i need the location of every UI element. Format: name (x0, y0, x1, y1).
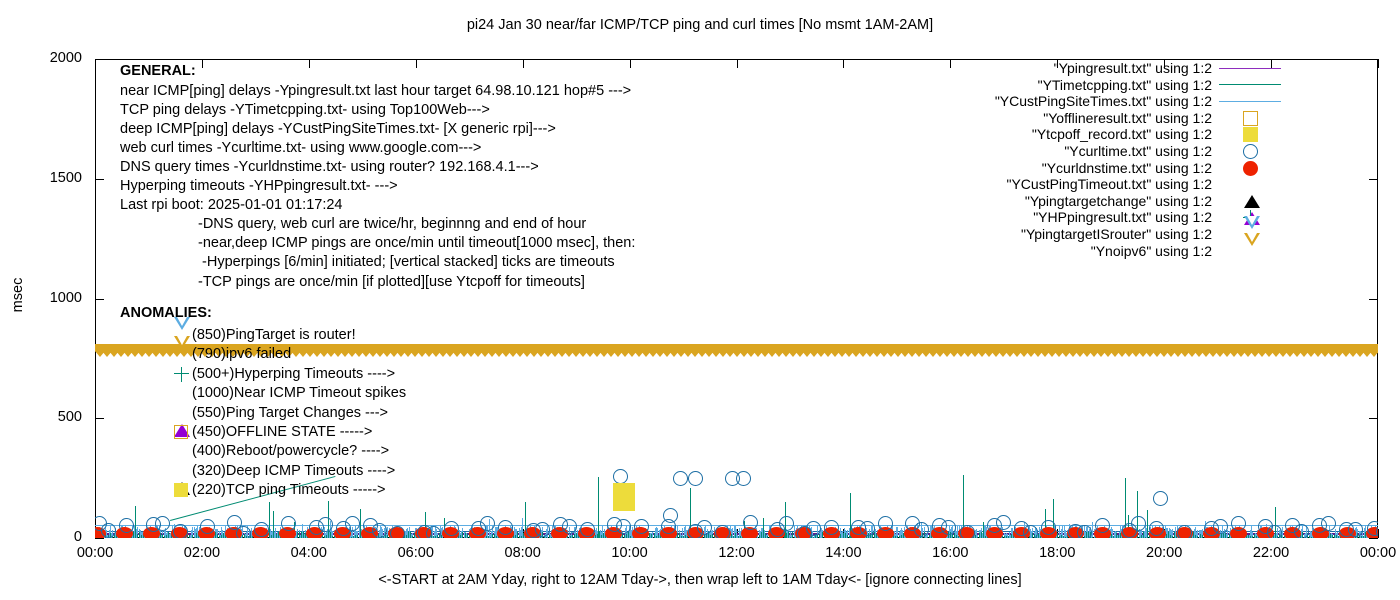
general-indented-line-1: -near,deep ICMP pings are once/min until… (120, 236, 635, 251)
general-line-5: Hyperping timeouts -YHPpingresult.txt- -… (120, 179, 635, 194)
legend-item-0: "Ypingresult.txt" using 1:2 (905, 60, 1300, 77)
legend-label-6: "Ycurldnstime.txt" using 1:2 (1042, 160, 1212, 176)
y-tick-label-0: 0 (0, 529, 82, 545)
open-triangle-down-icon (1217, 243, 1283, 260)
legend-item-7: "YCustPingTimeout.txt" using 1:2 (905, 176, 1300, 193)
anomaly-row-3: (1000)Near ICMP Timeout spikes (192, 385, 406, 401)
anomaly-label-0: (850)PingTarget is router! (192, 327, 356, 343)
x-tick-label-3: 06:00 (356, 545, 476, 561)
legend-item-5: "Ycurltime.txt" using 1:2 (905, 143, 1300, 160)
general-indented-line-0: -DNS query, web curl are twice/hr, begin… (120, 217, 635, 232)
x-tick-label-12: 00:00 (1318, 545, 1400, 561)
open-square-icon (1217, 110, 1283, 127)
legend-item-10: "YpingtargetISrouter" using 1:2 (905, 226, 1300, 243)
legend-label-5: "Ycurltime.txt" using 1:2 (1064, 143, 1212, 159)
legend-label-10: "YpingtargetISrouter" using 1:2 (1021, 226, 1212, 242)
legend-item-1: "YTimetcpping.txt" using 1:2 (905, 77, 1300, 94)
legend-line-icon-0 (1217, 60, 1283, 77)
anomaly-label-5: (450)OFFLINE STATE -----> (192, 424, 372, 440)
y-tick-mark-right-0 (1369, 538, 1378, 539)
anomalies-annotation-block: ANOMALIES: (850)PingTarget is router!(79… (120, 305, 640, 505)
legend-label-9: "YHPpingresult.txt" using 1:2 (1033, 209, 1212, 225)
page-title: pi24 Jan 30 near/far ICMP/TCP ping and c… (0, 17, 1400, 33)
x-tick-label-4: 08:00 (463, 545, 583, 561)
legend-line-icon-1 (1217, 77, 1283, 94)
x-tick-mark-12 (1378, 529, 1379, 538)
y-tick-label-1500: 1500 (0, 170, 82, 186)
legend-label-0: "Ypingresult.txt" using 1:2 (1054, 60, 1212, 76)
anomaly-label-3: (1000)Near ICMP Timeout spikes (192, 385, 406, 401)
general-line-1: TCP ping delays -YTimetcpping.txt- using… (120, 103, 635, 118)
anomaly-row-6: (400)Reboot/powercycle? ----> (192, 443, 389, 459)
open-triangle-up-icon (174, 466, 190, 482)
legend: "Ypingresult.txt" using 1:2"YTimetcpping… (905, 60, 1300, 259)
anomaly-row-5: (450)OFFLINE STATE -----> (192, 424, 372, 440)
general-heading: GENERAL: (120, 63, 635, 79)
y-tick-label-500: 500 (0, 409, 82, 425)
filled-square-icon (1217, 126, 1283, 143)
legend-label-7: "YCustPingTimeout.txt" using 1:2 (1006, 176, 1212, 192)
legend-item-4: "Ytcpoff_record.txt" using 1:2 (905, 126, 1300, 143)
anomaly-row-8: (220)TCP ping Timeouts -----> (192, 482, 386, 498)
anomaly-row-1: (790)ipv6 failed (192, 346, 291, 362)
filled-circle-icon (1217, 160, 1283, 177)
anomaly-label-6: (400)Reboot/powercycle? ----> (192, 443, 389, 459)
y-tick-label-1000: 1000 (0, 290, 82, 306)
anomalies-heading: ANOMALIES: (120, 305, 640, 321)
legend-item-3: "Yofflineresult.txt" using 1:2 (905, 110, 1300, 127)
legend-label-8: "Ypingtargetchange" using 1:2 (1025, 193, 1212, 209)
legend-label-11: "Ynoipv6" using 1:2 (1091, 243, 1212, 259)
legend-label-1: "YTimetcpping.txt" using 1:2 (1038, 77, 1212, 93)
open-square-icon (174, 425, 188, 443)
open-triangle-up-icon (1217, 176, 1283, 193)
anomaly-row-0: (850)PingTarget is router! (192, 327, 356, 343)
anomaly-label-8: (220)TCP ping Timeouts -----> (192, 482, 386, 498)
anomaly-label-4: (550)Ping Target Changes ---> (192, 405, 388, 421)
data-point-ynoipv6 (1377, 344, 1378, 357)
x-tick-label-2: 04:00 (249, 545, 369, 561)
legend-label-2: "YCustPingSiteTimes.txt" using 1:2 (995, 93, 1212, 109)
legend-item-11: "Ynoipv6" using 1:2 (905, 243, 1300, 260)
general-line-3: web curl times -Ycurltime.txt- using www… (120, 141, 635, 156)
open-circle-icon (1217, 143, 1283, 160)
y-tick-label-2000: 2000 (0, 50, 82, 66)
x-tick-mark-top-12 (1378, 59, 1379, 68)
x-tick-label-1: 02:00 (142, 545, 262, 561)
anomaly-row-2: (500+)Hyperping Timeouts ----> (192, 366, 395, 382)
general-line-6: Last rpi boot: 2025-01-01 01:17:24 (120, 198, 635, 213)
x-tick-label-6: 12:00 (677, 545, 797, 561)
general-line-0: near ICMP[ping] delays -Ypingresult.txt … (120, 84, 635, 99)
filled-triangle-up-icon (174, 408, 190, 424)
x-tick-label-5: 10:00 (570, 545, 690, 561)
plus-icon (174, 367, 189, 386)
x-tick-label-0: 00:00 (35, 545, 155, 561)
x-tick-label-10: 20:00 (1104, 545, 1224, 561)
chart-root: pi24 Jan 30 near/far ICMP/TCP ping and c… (0, 0, 1400, 600)
x-tick-label-8: 16:00 (890, 545, 1010, 561)
anomaly-row-4: (550)Ping Target Changes ---> (192, 405, 388, 421)
legend-line-icon-2 (1217, 93, 1283, 110)
x-axis-caption: <-START at 2AM Yday, right to 12AM Tday-… (0, 572, 1400, 588)
x-tick-label-7: 14:00 (783, 545, 903, 561)
general-line-2: deep ICMP[ping] delays -YCustPingSiteTim… (120, 122, 635, 137)
general-line-4: DNS query times -Ycurldnstime.txt- using… (120, 160, 635, 175)
legend-item-8: "Ypingtargetchange" using 1:2 (905, 193, 1300, 210)
anomaly-label-7: (320)Deep ICMP Timeouts ----> (192, 463, 395, 479)
filled-triangle-up-icon (1217, 193, 1283, 210)
legend-item-9: "YHPpingresult.txt" using 1:2 (905, 209, 1300, 226)
filled-square-icon (174, 483, 188, 501)
general-indented-line-3: -TCP pings are once/min [if plotted][use… (120, 275, 635, 290)
x-tick-label-9: 18:00 (997, 545, 1117, 561)
anomaly-label-1: (790)ipv6 failed (192, 346, 291, 362)
anomaly-label-2: (500+)Hyperping Timeouts ----> (192, 366, 395, 382)
legend-label-4: "Ytcpoff_record.txt" using 1:2 (1032, 126, 1212, 142)
legend-item-6: "Ycurldnstime.txt" using 1:2 (905, 160, 1300, 177)
general-indented-line-2: -Hyperpings [6/min] initiated; [vertical… (120, 255, 635, 270)
legend-label-3: "Yofflineresult.txt" using 1:2 (1043, 110, 1212, 126)
legend-item-2: "YCustPingSiteTimes.txt" using 1:2 (905, 93, 1300, 110)
general-annotation-block: GENERAL: near ICMP[ping] delays -Ypingre… (120, 63, 635, 289)
y-tick-mark-0 (95, 538, 104, 539)
anomaly-row-7: (320)Deep ICMP Timeouts ----> (192, 463, 395, 479)
open-triangle-down-icon (174, 349, 190, 365)
x-tick-label-11: 22:00 (1211, 545, 1331, 561)
